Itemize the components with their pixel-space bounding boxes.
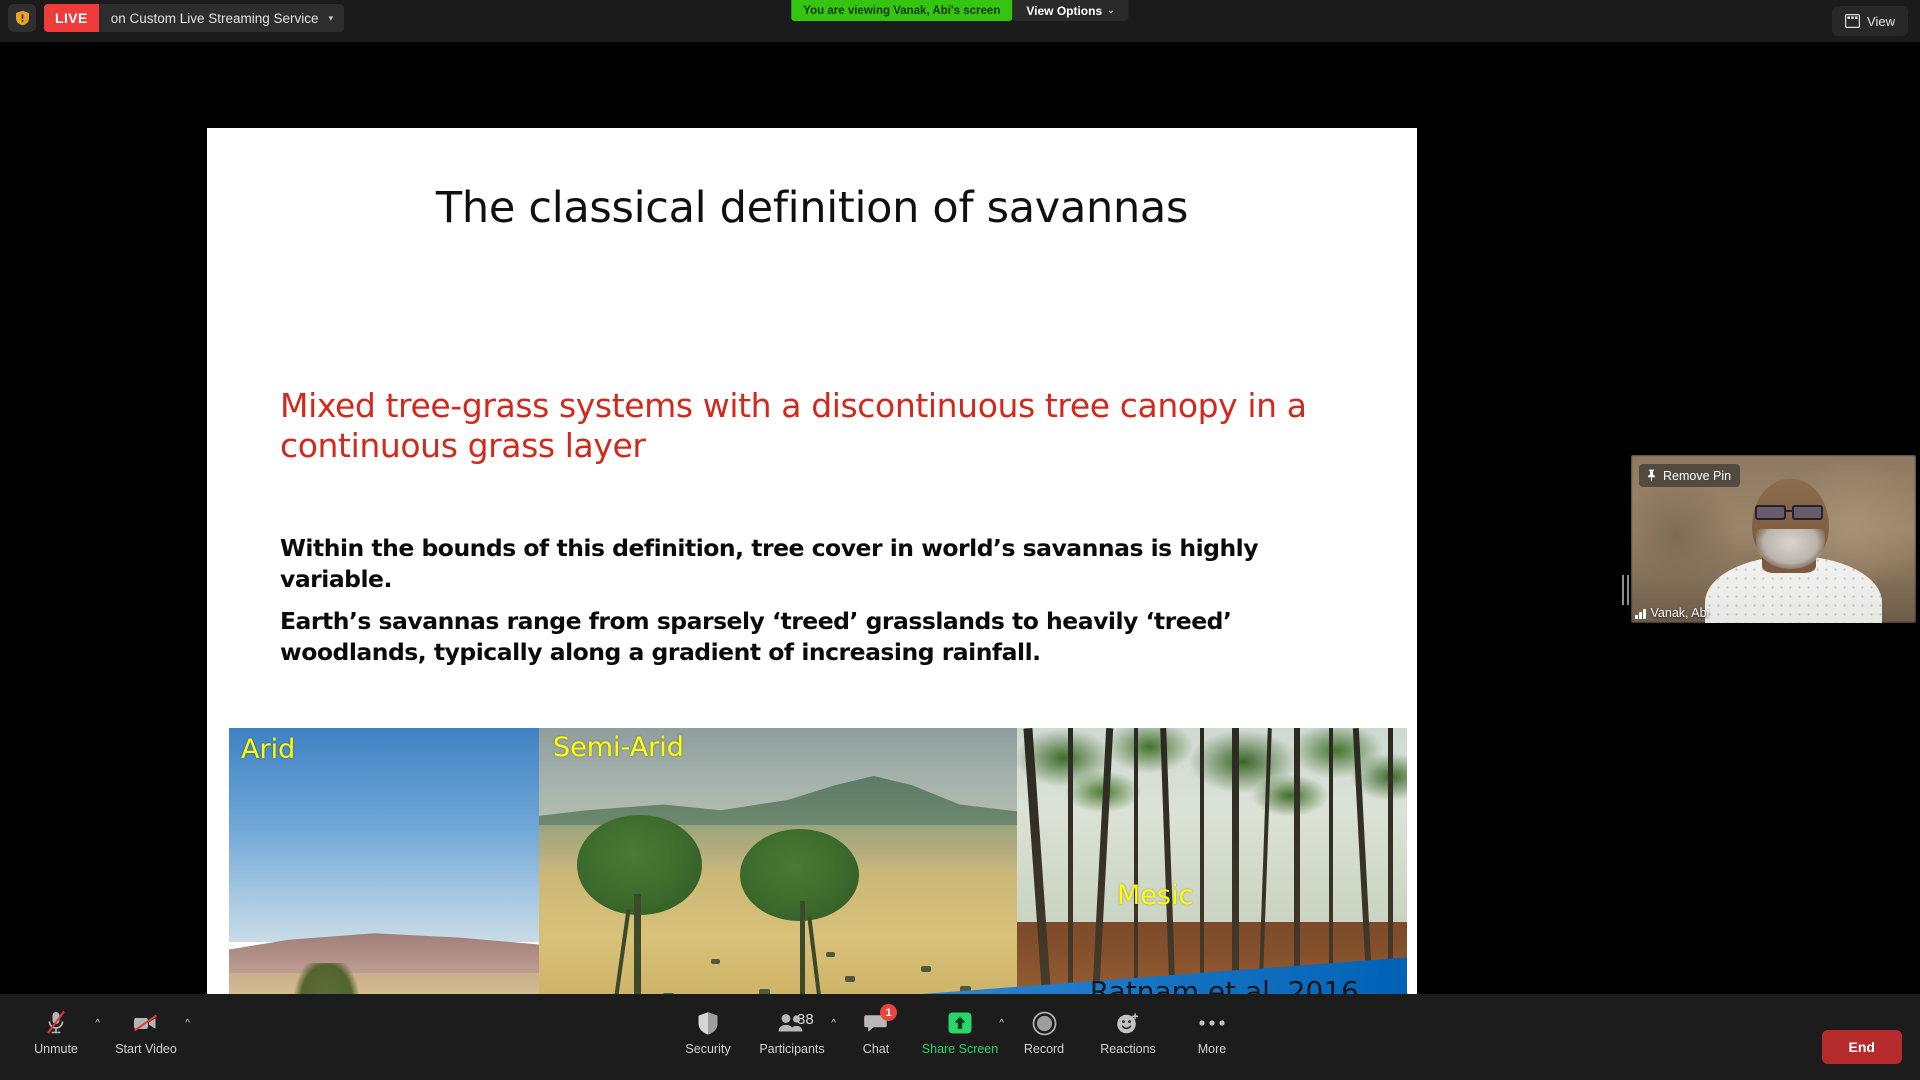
share-screen-label: Share Screen [922,1042,998,1056]
chat-label: Chat [863,1042,889,1056]
grid-layout-icon [1845,14,1860,28]
mesic-canopy [1017,728,1407,916]
more-label: More [1198,1042,1226,1056]
slide-title: The classical definition of savannas [207,183,1417,233]
participant-glasses-bridge [1786,510,1792,512]
live-badge: LIVE [44,4,99,32]
mesic-tree-trunk [1200,728,1204,1003]
more-icon [1198,1008,1226,1038]
meeting-toolbar: Unmute ^ Start Video ^ [0,994,1920,1080]
record-label: Record [1024,1042,1064,1056]
semiarid-wildlife [711,959,720,964]
view-options-button[interactable]: View Options ⌄ [1012,0,1128,21]
side-panel-drag-handle[interactable] [1621,572,1630,608]
slide-body-paragraph-1: Within the bounds of this definition, tr… [280,533,1360,594]
pinned-participant-video[interactable]: Remove Pin Vanak, Abi [1631,455,1916,623]
remove-pin-button[interactable]: Remove Pin [1639,464,1740,487]
reactions-icon [1115,1008,1141,1038]
live-stream-group: LIVE on Custom Live Streaming Service ▾ [8,4,344,32]
start-video-label: Start Video [115,1042,177,1056]
record-icon [1032,1008,1057,1038]
live-streaming-pill[interactable]: LIVE on Custom Live Streaming Service ▾ [44,4,344,32]
shield-warning-icon [15,10,30,26]
record-button[interactable]: Record [1002,1002,1086,1068]
share-screen-button[interactable]: Share Screen ^ [918,1002,1002,1068]
semiarid-wildlife [826,952,835,957]
semiarid-wildlife [921,966,931,972]
participant-glasses-right [1792,505,1823,520]
participants-button[interactable]: 38 Participants ^ [750,1002,834,1068]
security-label: Security [685,1042,730,1056]
unmute-label: Unmute [34,1042,78,1056]
participant-name-badge: Vanak, Abi [1635,606,1709,620]
viewing-screen-banner: You are viewing Vanak, Abi's screen [791,0,1012,21]
share-screen-icon [947,1008,973,1038]
chevron-down-icon: ⌄ [1107,5,1115,16]
participants-count: 38 [797,1011,814,1028]
view-layout-label: View [1867,14,1895,29]
unmute-button[interactable]: Unmute ^ [14,1002,98,1068]
view-layout-button[interactable]: View [1832,6,1908,36]
view-options-label: View Options [1026,4,1102,18]
live-service-label: on Custom Live Streaming Service [99,4,329,32]
chat-unread-badge: 1 [880,1004,897,1021]
figure-label-arid: Arid [241,734,295,765]
audio-options-chevron-icon[interactable]: ^ [95,1018,100,1029]
video-stopped-icon [132,1008,160,1038]
reactions-button[interactable]: Reactions [1086,1002,1170,1068]
toolbar-left-group: Unmute ^ Start Video ^ [14,1002,188,1068]
slide-definition-text: Mixed tree-grass systems with a disconti… [280,386,1340,467]
figure-label-mesic: Mesic [1117,880,1193,911]
figure-label-semi-arid: Semi-Arid [553,732,684,763]
microphone-muted-icon [45,1008,67,1038]
participant-name-label: Vanak, Abi [1651,606,1710,620]
slide-body-paragraph-2: Earth’s savannas range from sparsely ‘tr… [280,606,1360,668]
pin-icon [1646,469,1657,482]
toolbar-center-group: Security 38 Participants ^ [666,1002,1254,1068]
mesic-tree-trunk [1294,728,1300,1003]
end-meeting-button[interactable]: End [1822,1030,1902,1064]
zoom-meeting-window: LIVE on Custom Live Streaming Service ▾ … [0,0,1920,1080]
participants-label: Participants [759,1042,824,1056]
screen-share-status-group: You are viewing Vanak, Abi's screen View… [791,0,1128,21]
start-video-button[interactable]: Start Video ^ [104,1002,188,1068]
meeting-info-shield-button[interactable] [8,4,36,32]
participant-glasses-left [1755,505,1786,520]
reactions-label: Reactions [1100,1042,1156,1056]
remove-pin-label: Remove Pin [1663,469,1731,483]
video-options-chevron-icon[interactable]: ^ [185,1018,190,1029]
presentation-slide: The classical definition of savannas Mix… [207,128,1417,1036]
photo-panel-arid: Arid [229,728,539,1036]
semiarid-wildlife [845,976,855,982]
shield-icon [697,1008,719,1038]
mesic-tree-trunk [1134,728,1138,1003]
chevron-down-icon[interactable]: ▾ [329,13,345,24]
security-button[interactable]: Security [666,1002,750,1068]
mesic-tree-trunk [1329,728,1333,1003]
semiarid-acacia-tree [577,815,701,1023]
signal-strength-icon [1635,608,1646,619]
chat-button[interactable]: 1 Chat [834,1002,918,1068]
mesic-tree-trunk [1232,728,1239,1003]
more-button[interactable]: More [1170,1002,1254,1068]
photo-panel-semi-arid: Semi-Arid [539,728,1017,1036]
mesic-tree-trunk [1068,728,1073,1003]
top-bar: LIVE on Custom Live Streaming Service ▾ … [0,0,1920,42]
